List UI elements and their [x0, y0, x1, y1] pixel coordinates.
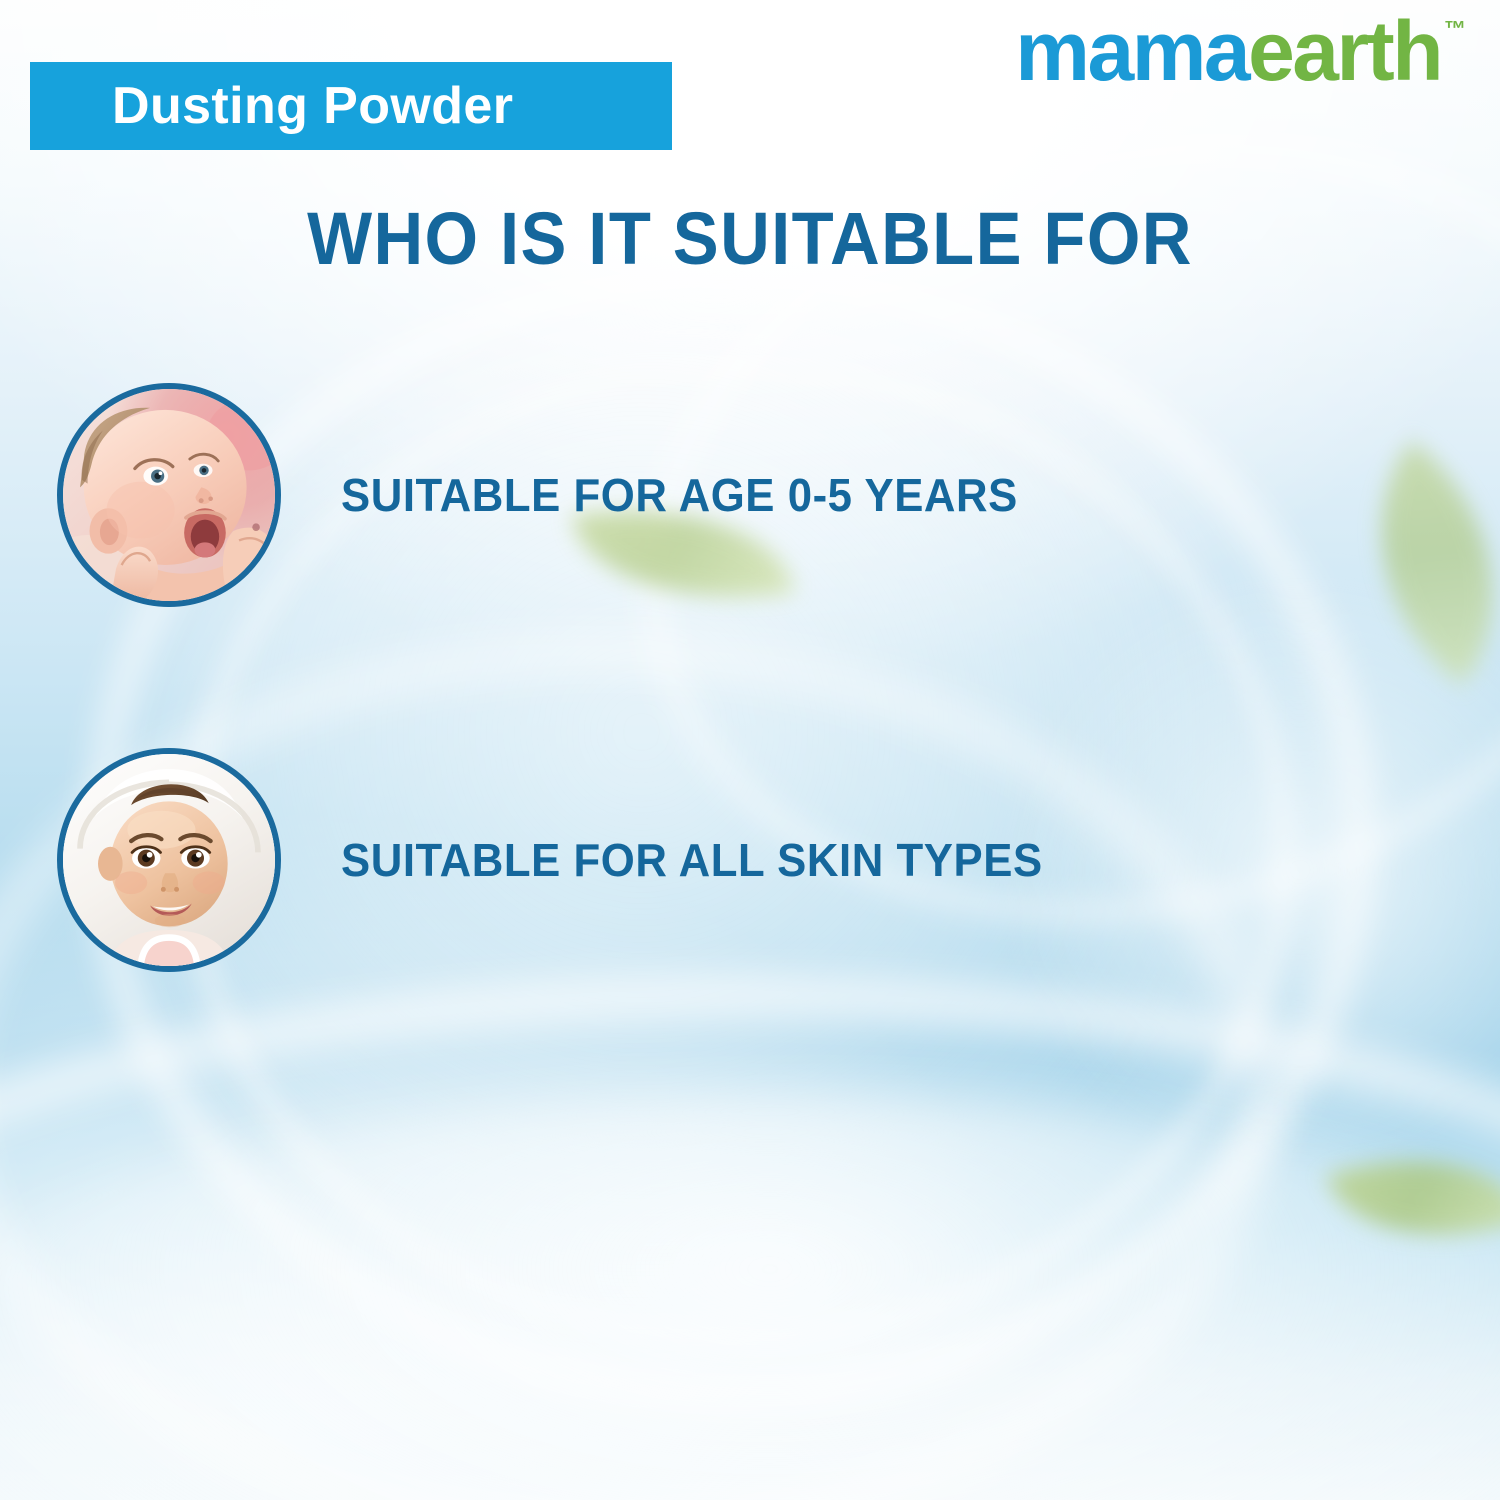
brand-logo-mama: mama [1015, 12, 1248, 91]
newborn-baby-illustration [63, 389, 275, 601]
leaf-icon-3 [1326, 1121, 1500, 1275]
leaf-icon-2 [1312, 441, 1500, 686]
glow-bottom [0, 1090, 1500, 1500]
swoosh-arc-bottom [0, 980, 1500, 1500]
trademark-icon: ™ [1444, 18, 1466, 40]
feature-label-age-range: SUITABLE FOR AGE 0-5 YEARS [341, 468, 1018, 522]
newborn-baby-photo [57, 383, 281, 607]
product-info-poster: Dusting Powder mama earth ™ WHO IS IT SU… [0, 0, 1500, 1500]
smiling-baby-illustration [63, 754, 275, 966]
page-title: WHO IS IT SUITABLE FOR [53, 196, 1448, 281]
feature-row-age-range: SUITABLE FOR AGE 0-5 YEARS [57, 383, 1054, 607]
brand-logo: mama earth ™ [1015, 12, 1466, 91]
brand-logo-earth: earth [1248, 12, 1441, 91]
product-category-badge: Dusting Powder [30, 62, 672, 150]
smiling-baby-photo [57, 748, 281, 972]
product-category-label: Dusting Powder [30, 80, 513, 132]
feature-row-skin-types: SUITABLE FOR ALL SKIN TYPES [57, 748, 1080, 972]
feature-label-skin-types: SUITABLE FOR ALL SKIN TYPES [341, 833, 1043, 887]
